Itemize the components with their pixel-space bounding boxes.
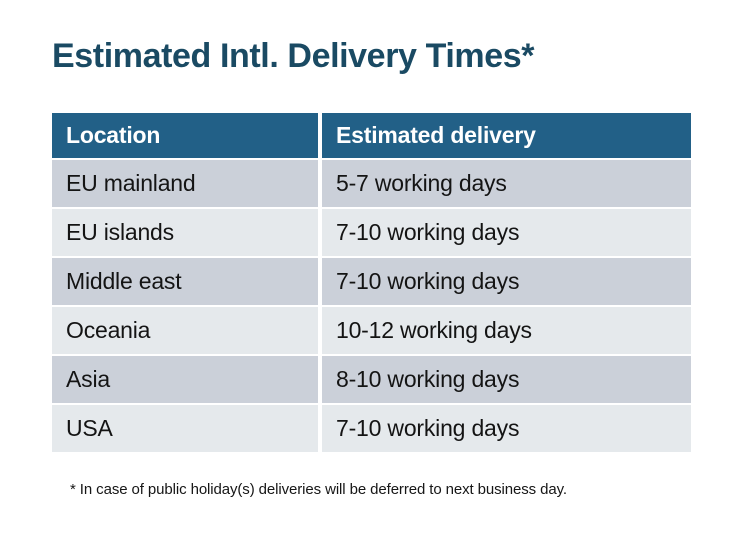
- delivery-times-table: Location Estimated delivery EU mainland …: [52, 113, 691, 452]
- table-row: EU islands 7-10 working days: [52, 209, 691, 256]
- table-row: Middle east 7-10 working days: [52, 258, 691, 305]
- table-row: Asia 8-10 working days: [52, 356, 691, 403]
- cell-location: Middle east: [52, 258, 318, 305]
- column-header-estimated-delivery: Estimated delivery: [322, 113, 691, 158]
- table-row: EU mainland 5-7 working days: [52, 160, 691, 207]
- table-header-row: Location Estimated delivery: [52, 113, 691, 158]
- cell-estimated-delivery: 5-7 working days: [322, 160, 691, 207]
- table-row: Oceania 10-12 working days: [52, 307, 691, 354]
- delivery-times-page: Estimated Intl. Delivery Times* Location…: [0, 0, 745, 536]
- cell-estimated-delivery: 10-12 working days: [322, 307, 691, 354]
- cell-estimated-delivery: 7-10 working days: [322, 405, 691, 452]
- page-title: Estimated Intl. Delivery Times*: [52, 38, 534, 75]
- cell-location: USA: [52, 405, 318, 452]
- table-row: USA 7-10 working days: [52, 405, 691, 452]
- cell-location: Asia: [52, 356, 318, 403]
- cell-location: EU islands: [52, 209, 318, 256]
- footnote-text: * In case of public holiday(s) deliverie…: [70, 481, 567, 498]
- cell-estimated-delivery: 8-10 working days: [322, 356, 691, 403]
- cell-estimated-delivery: 7-10 working days: [322, 258, 691, 305]
- column-header-location: Location: [52, 113, 318, 158]
- cell-location: Oceania: [52, 307, 318, 354]
- cell-estimated-delivery: 7-10 working days: [322, 209, 691, 256]
- cell-location: EU mainland: [52, 160, 318, 207]
